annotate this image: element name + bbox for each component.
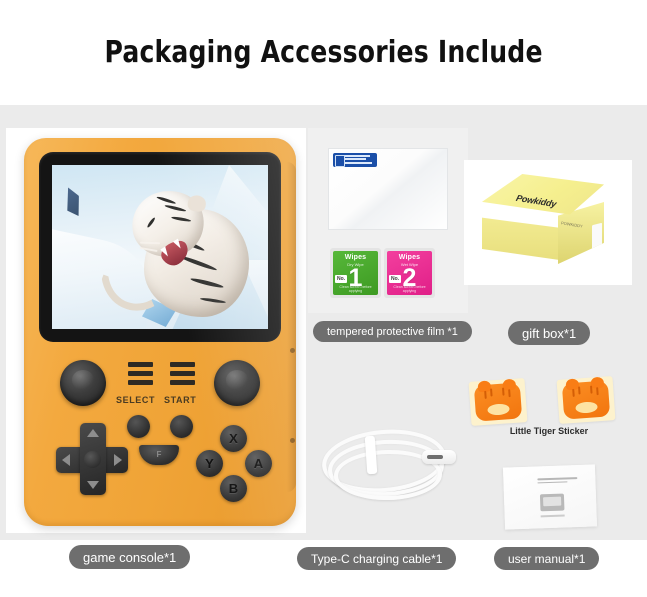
type-c-cable <box>316 412 462 532</box>
dpad-right-arrow-icon[interactable] <box>114 454 122 466</box>
start-label: START <box>164 395 196 405</box>
manual-cover <box>503 464 597 529</box>
page-header: Packaging Accessories Include <box>0 0 647 105</box>
wipe-2-word: Wipes <box>387 254 432 261</box>
wipe-1-foot: Clean screen before applying <box>333 285 378 293</box>
caption-tempered-film: tempered protective film *1 <box>313 321 472 342</box>
gift-box: Powkiddy POWKIDDY <box>482 174 604 266</box>
wipe-2-tab: No. <box>389 275 401 283</box>
select-lines-icon <box>128 362 153 385</box>
start-button[interactable] <box>170 415 193 438</box>
dpad[interactable] <box>56 423 128 495</box>
tempered-film-area: Wipes Dry Wipe No. 1 Clean screen before… <box>308 128 468 313</box>
manual-device-illustration-icon <box>540 494 565 512</box>
user-manual-booklet <box>496 462 608 534</box>
console-side-port-icon <box>290 348 295 353</box>
caption-gift-box: gift box*1 <box>508 321 590 345</box>
start-lines-icon <box>170 362 195 385</box>
tiger-sticker-muzzle <box>487 403 510 416</box>
dpad-up-arrow-icon[interactable] <box>87 429 99 437</box>
select-label: SELECT <box>116 395 155 405</box>
page-title: Packaging Accessories Include <box>104 35 542 70</box>
wipe-1-word: Wipes <box>333 254 378 261</box>
wipes-row: Wipes Dry Wipe No. 1 Clean screen before… <box>330 248 435 298</box>
wipe-1-tab: No. <box>335 275 347 283</box>
gift-box-front-face <box>482 214 570 260</box>
console-side-button-icon <box>290 438 295 443</box>
film-label-sticker-icon <box>333 153 377 167</box>
dpad-left-arrow-icon[interactable] <box>62 454 70 466</box>
tempered-glass-sheet <box>328 148 448 230</box>
button-a[interactable]: A <box>245 450 272 477</box>
console-screen <box>52 165 268 329</box>
button-b[interactable]: B <box>220 475 247 502</box>
sticker-caption: Little Tiger Sticker <box>466 426 632 436</box>
handheld-console[interactable]: SELECT START F X Y A B <box>24 138 296 526</box>
tiger-face-icon <box>562 380 610 419</box>
manual-title-lines-icon <box>537 477 581 486</box>
white-tiger-illustration <box>116 173 266 328</box>
wipe-packet-1: Wipes Dry Wipe No. 1 Clean screen before… <box>330 248 381 298</box>
tiger-sticker-muzzle <box>575 401 598 414</box>
function-button-label: F <box>157 450 162 459</box>
gift-box-area: Powkiddy POWKIDDY <box>464 160 632 285</box>
button-y[interactable]: Y <box>196 450 223 477</box>
wipe-2-foot: Clean screen before applying <box>387 285 432 293</box>
right-analog-stick[interactable] <box>214 360 260 406</box>
little-tiger-stickers: Little Tiger Sticker <box>466 374 632 436</box>
left-analog-stick[interactable] <box>60 360 106 406</box>
caption-charging-cable: Type-C charging cable*1 <box>297 547 456 570</box>
select-button[interactable] <box>127 415 150 438</box>
caption-user-manual: user manual*1 <box>494 547 599 570</box>
gift-box-side-label <box>592 223 602 251</box>
tiger-sticker <box>557 376 616 424</box>
manual-device-base-icon <box>540 511 564 518</box>
dpad-center <box>84 451 101 468</box>
tiger-face-icon <box>474 382 522 421</box>
caption-game-console: game console*1 <box>69 545 190 569</box>
dpad-down-arrow-icon[interactable] <box>87 481 99 489</box>
button-x[interactable]: X <box>220 425 247 452</box>
tiger-sticker <box>469 378 528 426</box>
wipe-packet-2: Wipes Wet Wipe No. 2 Clean screen before… <box>384 248 435 298</box>
usb-c-connector-icon <box>422 450 456 464</box>
function-button[interactable]: F <box>139 445 179 465</box>
screen-bezel <box>39 152 281 342</box>
ice-crystal-icon <box>61 186 83 219</box>
